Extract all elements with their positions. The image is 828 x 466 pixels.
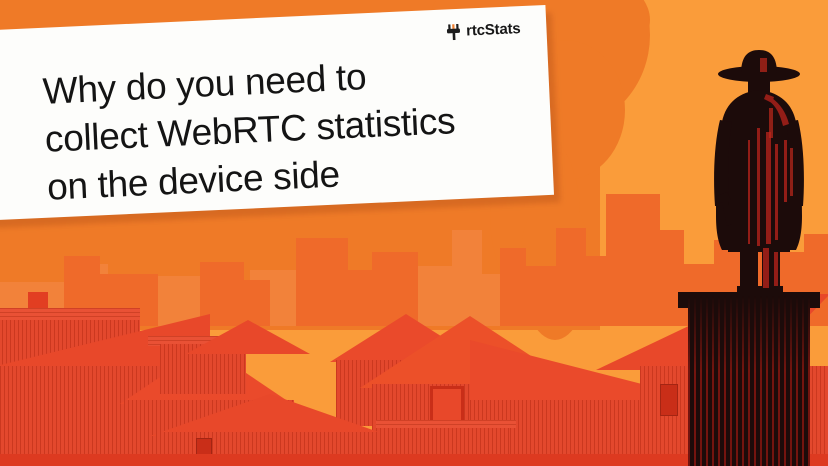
headline: Why do you need to collect WebRTC statis… — [41, 20, 528, 212]
tower-texture — [688, 296, 810, 466]
wooden-tower — [688, 296, 810, 466]
plug-icon — [446, 23, 462, 40]
brand-logo: rtcStats — [446, 20, 521, 40]
cover-image: rtcStats Why do you need to collect WebR… — [0, 0, 828, 466]
title-card: rtcStats Why do you need to collect WebR… — [0, 5, 554, 221]
brand-name: rtcStats — [466, 20, 521, 39]
cowboy-silhouette — [700, 48, 818, 298]
card-surface: rtcStats Why do you need to collect WebR… — [0, 5, 554, 221]
